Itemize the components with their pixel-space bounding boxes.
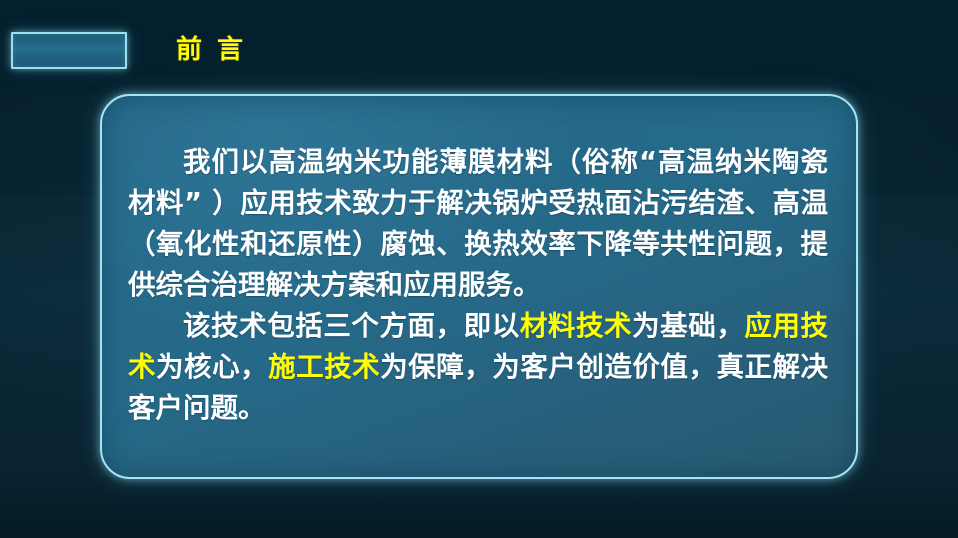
paragraph-three-aspects: 该技术包括三个方面，即以材料技术为基础，应用技术为核心，施工技术为保障，为客户创… — [128, 306, 828, 429]
content-panel-body: 我们以高温纳米功能薄膜材料（俗称“高温纳米陶瓷材料” ）应用技术致力于解决锅炉受… — [102, 96, 856, 477]
body-text-run: 为核心， — [156, 351, 268, 383]
highlighted-term: 施工技术 — [268, 351, 380, 383]
body-text-run: 为基础， — [632, 310, 744, 342]
slide-canvas: 前 言 我们以高温纳米功能薄膜材料（俗称“高温纳米陶瓷材料” ）应用技术致力于解… — [0, 0, 958, 538]
body-text-run: 我们以高温纳米功能薄膜材料（俗称“高温纳米陶瓷材料” ）应用技术致力于解决锅炉受… — [128, 146, 828, 301]
header-accent-box — [11, 32, 127, 69]
body-text-run: 该技术包括三个方面，即以 — [183, 310, 520, 342]
page-title: 前 言 — [176, 32, 246, 68]
paragraph-overview: 我们以高温纳米功能薄膜材料（俗称“高温纳米陶瓷材料” ）应用技术致力于解决锅炉受… — [128, 142, 828, 306]
highlighted-term: 材料技术 — [520, 310, 632, 342]
content-panel: 我们以高温纳米功能薄膜材料（俗称“高温纳米陶瓷材料” ）应用技术致力于解决锅炉受… — [100, 94, 858, 479]
